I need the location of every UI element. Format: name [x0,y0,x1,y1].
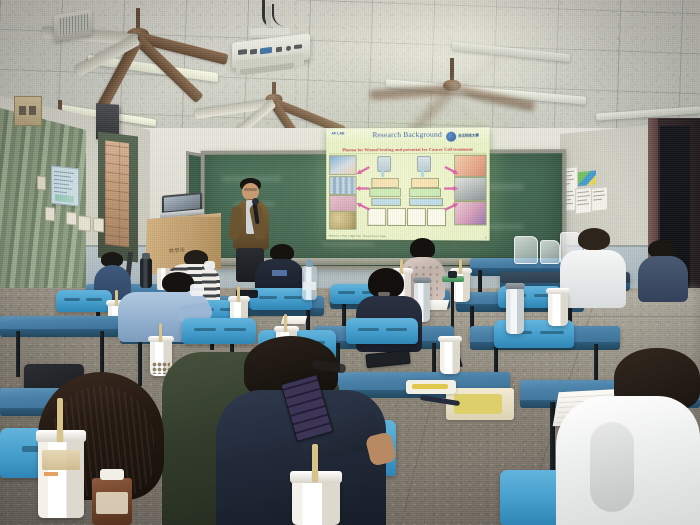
microphone-head-icon [252,198,259,205]
chair-row1-1[interactable] [56,290,112,312]
wall-notices-right [559,162,621,219]
face-mask-1 [204,261,215,270]
micrograph-sem [454,177,486,201]
world-map-print [578,170,596,186]
university-logo: 台北科技大學 [446,130,486,142]
light-switch-3[interactable] [78,215,91,231]
shirt-logo [272,270,287,276]
water-bottle-1 [302,266,317,300]
diagram-panel-2 [387,208,406,226]
diagram-panel-1 [367,208,386,226]
diagram-panel-4 [427,208,446,226]
slide-page-number: 2 [485,237,486,240]
presenter-laptop[interactable] [160,194,204,218]
plasma-plume-1 [381,169,384,177]
student-white-tee-right [560,228,626,312]
student-far-right-back [638,240,688,302]
diagram-panel-3 [407,208,426,226]
diagram-box-1 [371,178,399,188]
plastic-sample-bag-1 [514,236,538,264]
diagram-box-2 [411,178,439,188]
projection-screen: Research Background AP LAB 台北科技大學 Plasma… [326,127,489,240]
desk-row2-left [0,316,120,331]
left-door-window [98,132,138,263]
student-white-shirt-right [556,352,700,525]
micrograph-fluorescence [454,201,486,225]
paper-cup-right [548,292,568,326]
presenter-glasses [244,188,257,191]
bubble-tea-cup-foreground-2 [292,478,340,525]
diagram-box-3 [369,188,401,197]
diagram-box-5 [371,198,401,206]
wall-socket-left [37,176,46,191]
bubble-tea-cup-foreground [38,438,84,518]
face-mask-2 [190,284,204,296]
diagram-box-6 [409,198,443,206]
micrograph-tissue [454,155,486,177]
arrow-left-mid [356,186,370,191]
micrograph-gel [329,176,356,195]
micrograph-wound [329,155,356,175]
ceiling-fan-3 [370,58,560,122]
light-switch-2[interactable] [66,211,77,225]
micrograph-cells-pink [329,195,356,212]
diagram-box-4 [409,188,441,197]
wall-notice-left [51,166,79,207]
micrograph-colony [329,211,356,230]
recording-device [448,271,457,278]
light-switch-4[interactable] [93,217,104,232]
classroom-photo: Research Background AP LAB 台北科技大學 Plasma… [0,0,700,525]
noodle-cup-lid [406,380,456,394]
plasma-plume-2 [421,169,424,177]
lab-logo: AP LAB [330,132,346,143]
light-switch-1[interactable] [45,206,55,221]
university-crest-icon [446,132,456,142]
arrow-left-down [355,201,370,212]
plastic-sample-bag-2 [540,240,560,264]
paper-cup-mid [440,340,460,374]
thermos-flask-3 [506,288,524,334]
sauce-bottle-foreground [92,478,132,525]
ceiling-projector [228,26,312,80]
arrow-left-up [355,165,370,176]
wall-box-left [14,96,42,126]
slide-diagram [326,154,489,233]
